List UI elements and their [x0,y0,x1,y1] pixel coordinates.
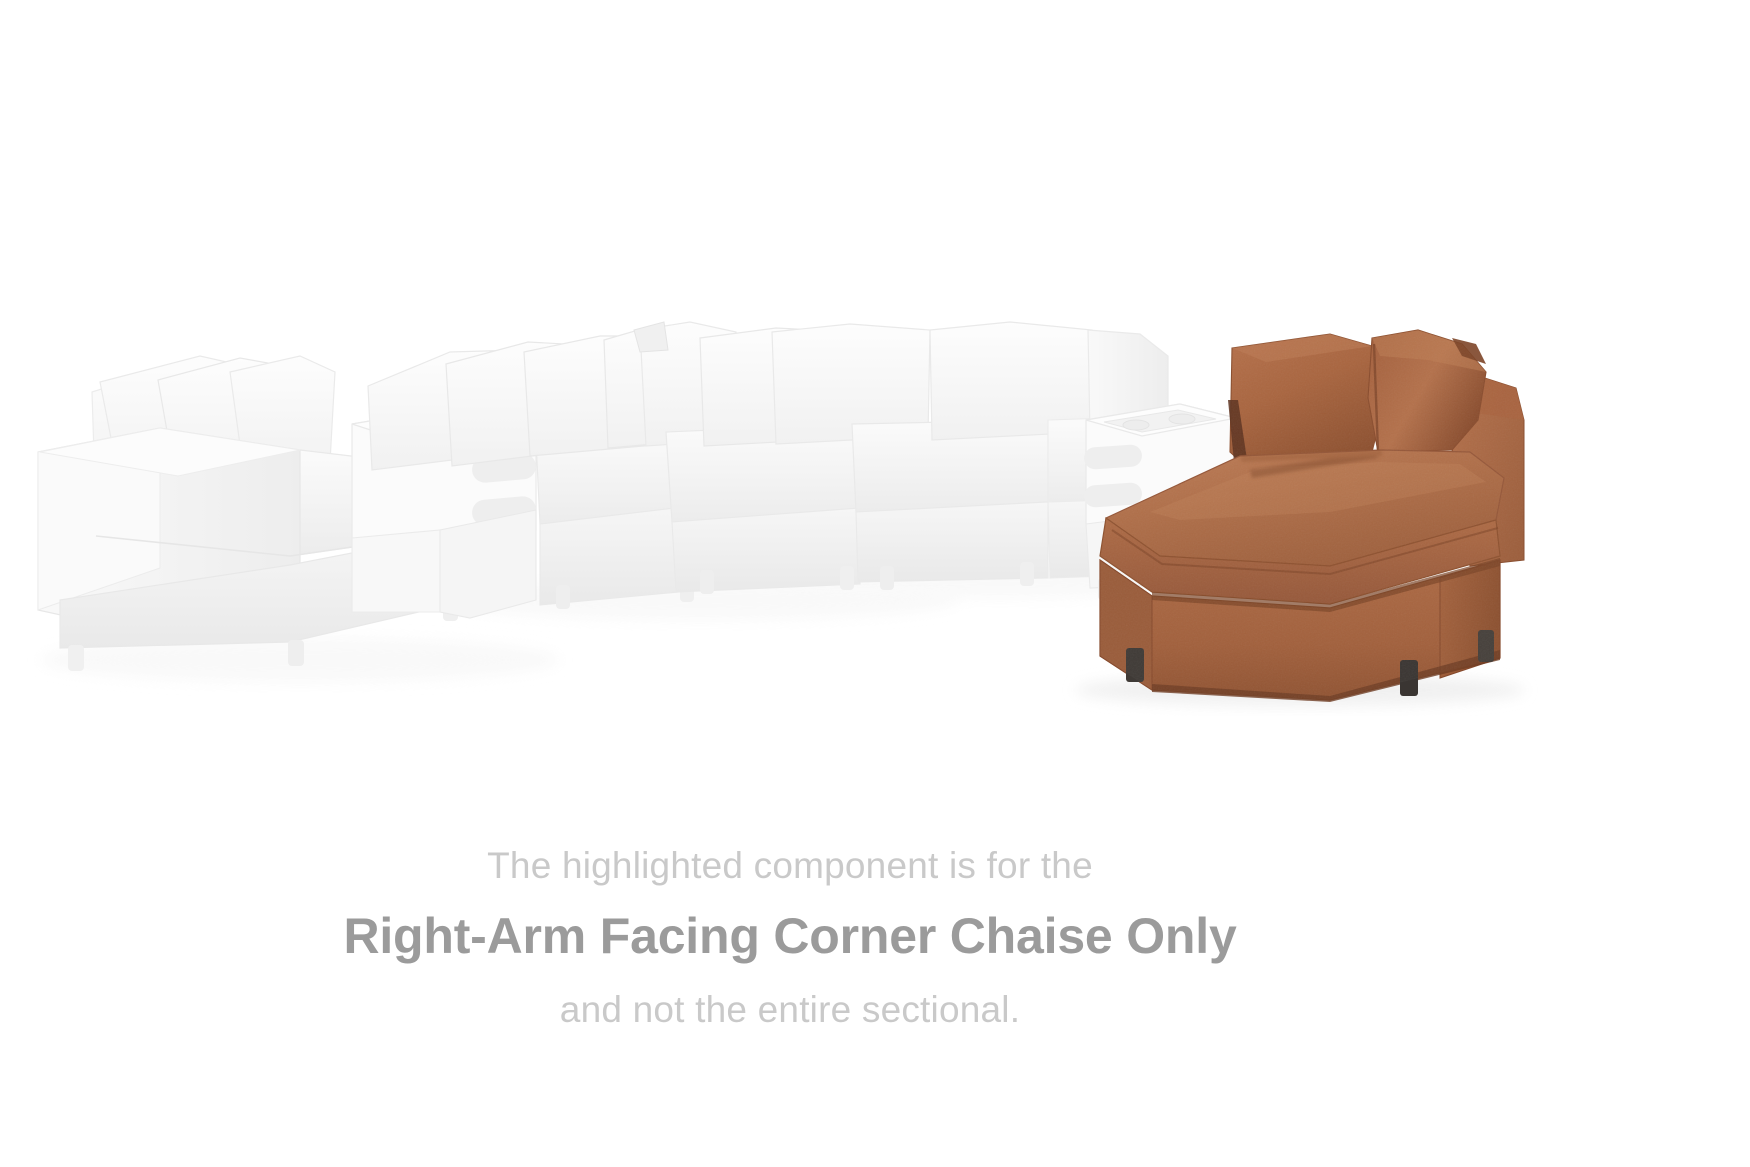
cup-holder [1169,414,1195,424]
sofa-leg [1020,562,1034,586]
cup-holder [1123,420,1149,430]
caption-block: The highlighted component is for the Rig… [0,838,1580,1038]
ghosted-sectional [38,322,1236,682]
caption-component-name: Right-Arm Facing Corner Chaise Only [0,900,1580,973]
sofa-leg [840,566,854,590]
sofa-leg [68,645,84,671]
product-figure [0,0,1750,830]
sofa-leg [700,570,714,594]
caption-line-disclaimer: and not the entire sectional. [0,982,1580,1038]
console-slot [1083,444,1142,470]
sofa-leg [556,585,570,609]
caption-line-intro: The highlighted component is for the [0,838,1580,894]
sectional-illustration [0,0,1750,830]
sofa-leg [880,566,894,590]
sofa-leg [288,640,304,666]
console-slot [1083,482,1142,508]
